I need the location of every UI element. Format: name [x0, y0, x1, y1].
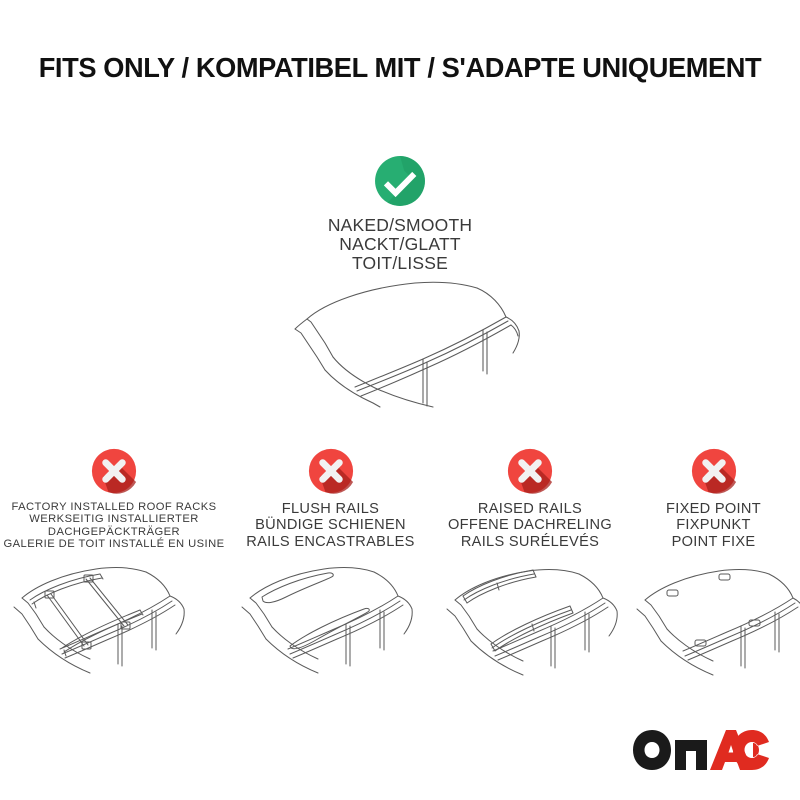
- compatible-roof-block: NAKED/SMOOTH NACKT/GLATT TOIT/LISSE: [0, 155, 800, 273]
- omac-logo-mark: [632, 728, 770, 772]
- fitment-compatibility-graphic: FITS ONLY / KOMPATIBEL MIT / S'ADAPTE UN…: [0, 0, 800, 800]
- car-roof-naked-smooth-illustration: [255, 275, 555, 435]
- page-title: FITS ONLY / KOMPATIBEL MIT / S'ADAPTE UN…: [4, 52, 796, 84]
- compatible-roof-labels: NAKED/SMOOTH NACKT/GLATT TOIT/LISSE: [0, 216, 800, 273]
- car-roof-factory-rack-illustration: [0, 552, 228, 697]
- x-circle-icon: [691, 448, 737, 494]
- label-line-2: FIXPUNKT: [627, 517, 800, 533]
- label-line-1: FACTORY INSTALLED ROOF RACKS: [0, 501, 228, 513]
- label-line-2: BÜNDIGE SCHIENEN: [228, 517, 433, 533]
- label-line-1: FIXED POINT: [627, 501, 800, 517]
- car-roof-flush-rails-illustration: [228, 552, 433, 697]
- x-circle-icon: [507, 448, 553, 494]
- label-line-3: DACHGEPÄCKTRÄGER: [0, 526, 228, 538]
- x-circle-icon: [308, 448, 354, 494]
- compatible-label-de: NACKT/GLATT: [0, 235, 800, 254]
- label-line-3: RAILS SURÉLEVÉS: [433, 534, 627, 550]
- incompatible-item-fixed-point: FIXED POINT FIXPUNKT POINT FIXE: [627, 448, 800, 550]
- compatible-label-en: NAKED/SMOOTH: [0, 216, 800, 235]
- omac-logo: [632, 732, 770, 772]
- car-roof-raised-rails-illustration: [433, 552, 627, 697]
- car-roof-fixed-point-illustration: [627, 552, 800, 697]
- label-line-2: WERKSEITIG INSTALLIERTER: [0, 513, 228, 525]
- label-line-1: FLUSH RAILS: [228, 501, 433, 517]
- incompatible-item-raised-rails: RAISED RAILS OFFENE DACHRELING RAILS SUR…: [433, 448, 627, 550]
- x-circle-icon: [91, 448, 137, 494]
- incompatible-labels-fixed-point: FIXED POINT FIXPUNKT POINT FIXE: [627, 501, 800, 550]
- label-line-1: RAISED RAILS: [433, 501, 627, 517]
- incompatible-labels-flush-rails: FLUSH RAILS BÜNDIGE SCHIENEN RAILS ENCAS…: [228, 501, 433, 550]
- compatible-label-fr: TOIT/LISSE: [0, 254, 800, 273]
- incompatible-labels-factory-installed-roof-racks: FACTORY INSTALLED ROOF RACKS WERKSEITIG …: [0, 501, 228, 551]
- check-circle-icon: [374, 155, 426, 207]
- label-line-4: GALERIE DE TOIT INSTALLÉ EN USINE: [0, 538, 228, 550]
- label-line-2: OFFENE DACHRELING: [433, 517, 627, 533]
- label-line-3: RAILS ENCASTRABLES: [228, 534, 433, 550]
- label-line-3: POINT FIXE: [627, 534, 800, 550]
- incompatible-item-factory-installed-roof-racks: FACTORY INSTALLED ROOF RACKS WERKSEITIG …: [0, 448, 228, 551]
- incompatible-labels-raised-rails: RAISED RAILS OFFENE DACHRELING RAILS SUR…: [433, 501, 627, 550]
- incompatible-roof-row: FACTORY INSTALLED ROOF RACKS WERKSEITIG …: [0, 448, 800, 698]
- incompatible-item-flush-rails: FLUSH RAILS BÜNDIGE SCHIENEN RAILS ENCAS…: [228, 448, 433, 550]
